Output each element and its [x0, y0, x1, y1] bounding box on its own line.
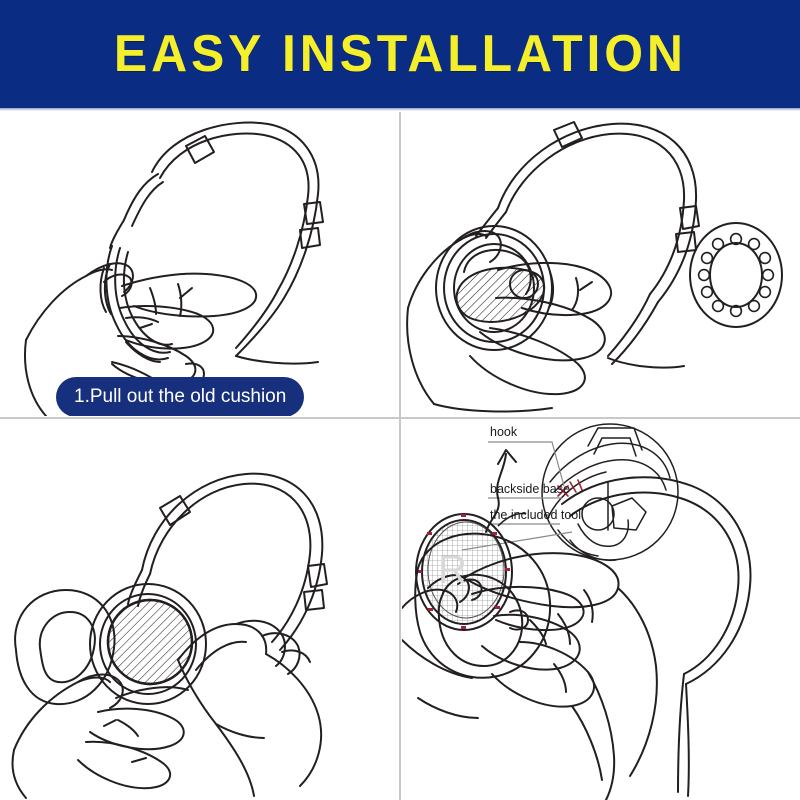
direction-arrow-head — [498, 450, 516, 464]
horizontal-divider — [0, 417, 800, 419]
step-4-illustration — [402, 420, 800, 800]
step-1-illustration — [0, 112, 398, 416]
header-underline — [0, 108, 800, 111]
annotation-hook: hook — [490, 425, 517, 439]
step-panel-4: R hook backside base the included tool 4… — [402, 420, 800, 800]
vertical-divider — [399, 112, 401, 800]
page-title: EASY INSTALLATION — [114, 28, 687, 80]
annotation-backside-base: backside base — [490, 482, 570, 496]
step-panel-3: 3.Apply new dustproof scrim inside the e… — [0, 420, 398, 800]
step-1-caption: 1.Pull out the old cushion — [56, 377, 304, 416]
annotation-included-tool: the included tool — [490, 508, 581, 522]
header-banner: EASY INSTALLATION — [0, 0, 800, 108]
step-panel-2: 2.Remove the old dustproof scrim — [402, 112, 800, 416]
infographic-page: EASY INSTALLATION — [0, 0, 800, 800]
step-2-illustration — [402, 112, 800, 416]
step-3-illustration — [0, 420, 398, 800]
step-panel-1: 1.Pull out the old cushion — [0, 112, 398, 416]
steps-grid: 1.Pull out the old cushion — [0, 112, 800, 800]
